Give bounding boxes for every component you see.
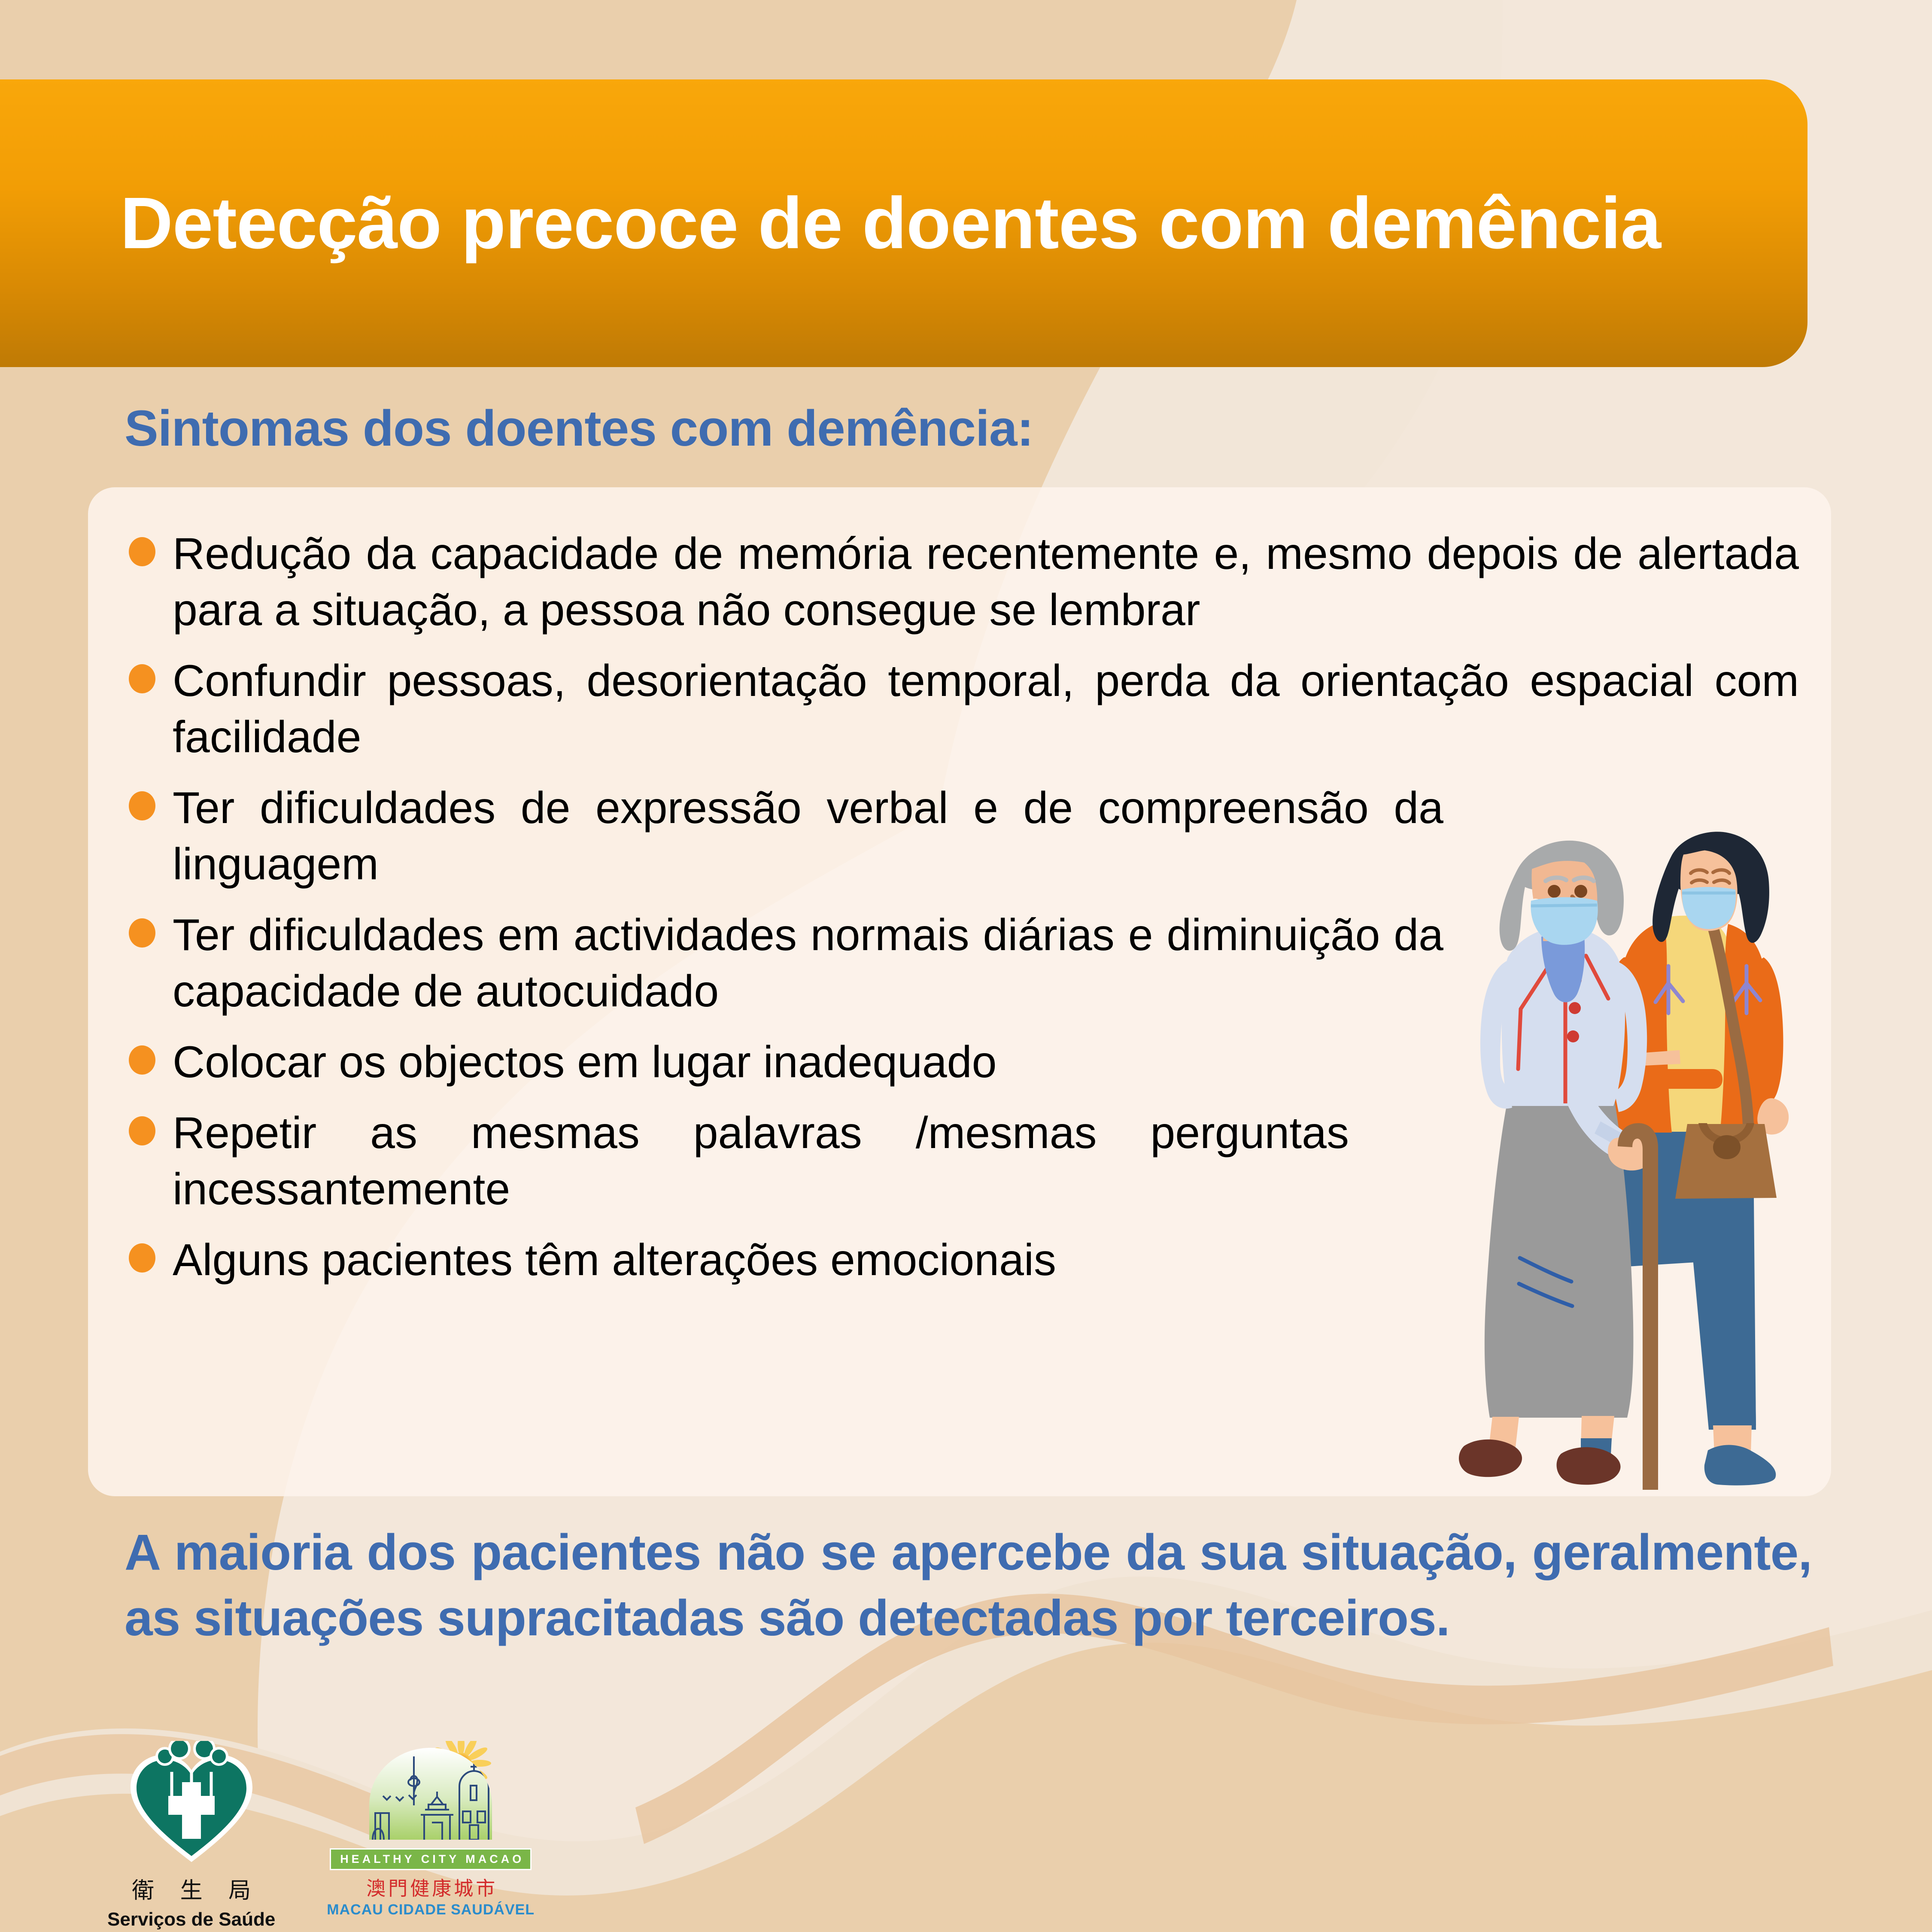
title-banner: Detecção precoce de doentes com demência bbox=[0, 79, 1807, 367]
section-heading: Sintomas dos doentes com demência: bbox=[125, 399, 1033, 458]
symptom-text: Colocar os objectos em lugar inadequado bbox=[173, 1034, 1443, 1091]
health-bureau-chinese-name: 衛 生 局 bbox=[122, 1872, 260, 1905]
symptom-text: Redução da capacidade de memória recente… bbox=[173, 526, 1799, 638]
bullet-dot-icon bbox=[129, 918, 155, 948]
bullet-dot-icon bbox=[129, 1243, 155, 1273]
logo-row: 衛 生 局 Serviços de Saúde bbox=[107, 1741, 535, 1930]
poster-root: Detecção precoce de doentes com demência… bbox=[0, 0, 1932, 1932]
conclusion-text: A maioria dos pacientes não se apercebe … bbox=[125, 1520, 1812, 1652]
logo-healthy-city-macao: HEALTHY CITY MACAO 澳門健康城市 MACAU CIDADE S… bbox=[327, 1741, 535, 1918]
bullet-dot-icon bbox=[129, 537, 155, 566]
illustration-two-women-walking bbox=[1413, 829, 1846, 1524]
logo-health-bureau: 衛 生 局 Serviços de Saúde bbox=[107, 1741, 275, 1930]
symptom-text: Ter dificuldades de expressão verbal e d… bbox=[173, 780, 1443, 893]
health-bureau-heart-icon bbox=[127, 1741, 256, 1865]
symptom-text: Confundir pessoas, desorientação tempora… bbox=[173, 653, 1799, 766]
symptom-text: Ter dificuldades em actividades normais … bbox=[173, 907, 1443, 1020]
healthy-city-english-name: HEALTHY CITY MACAO bbox=[330, 1848, 532, 1870]
healthy-city-macao-skyline-icon bbox=[360, 1741, 501, 1848]
symptom-text: Repetir as mesmas palavras /mesmas pergu… bbox=[173, 1105, 1349, 1218]
bullet-dot-icon bbox=[129, 1045, 155, 1075]
list-item: Confundir pessoas, desorientação tempora… bbox=[129, 653, 1799, 766]
bullet-dot-icon bbox=[129, 664, 155, 693]
bullet-dot-icon bbox=[129, 791, 155, 820]
healthy-city-portuguese-name: MACAU CIDADE SAUDÁVEL bbox=[327, 1902, 535, 1918]
health-bureau-portuguese-name: Serviços de Saúde bbox=[107, 1909, 275, 1930]
bullet-dot-icon bbox=[129, 1116, 155, 1145]
symptom-text: Alguns pacientes têm alterações emociona… bbox=[173, 1232, 1443, 1288]
list-item: Redução da capacidade de memória recente… bbox=[129, 526, 1799, 638]
page-title: Detecção precoce de doentes com demência bbox=[120, 185, 1661, 262]
healthy-city-chinese-name: 澳門健康城市 bbox=[364, 1873, 498, 1901]
